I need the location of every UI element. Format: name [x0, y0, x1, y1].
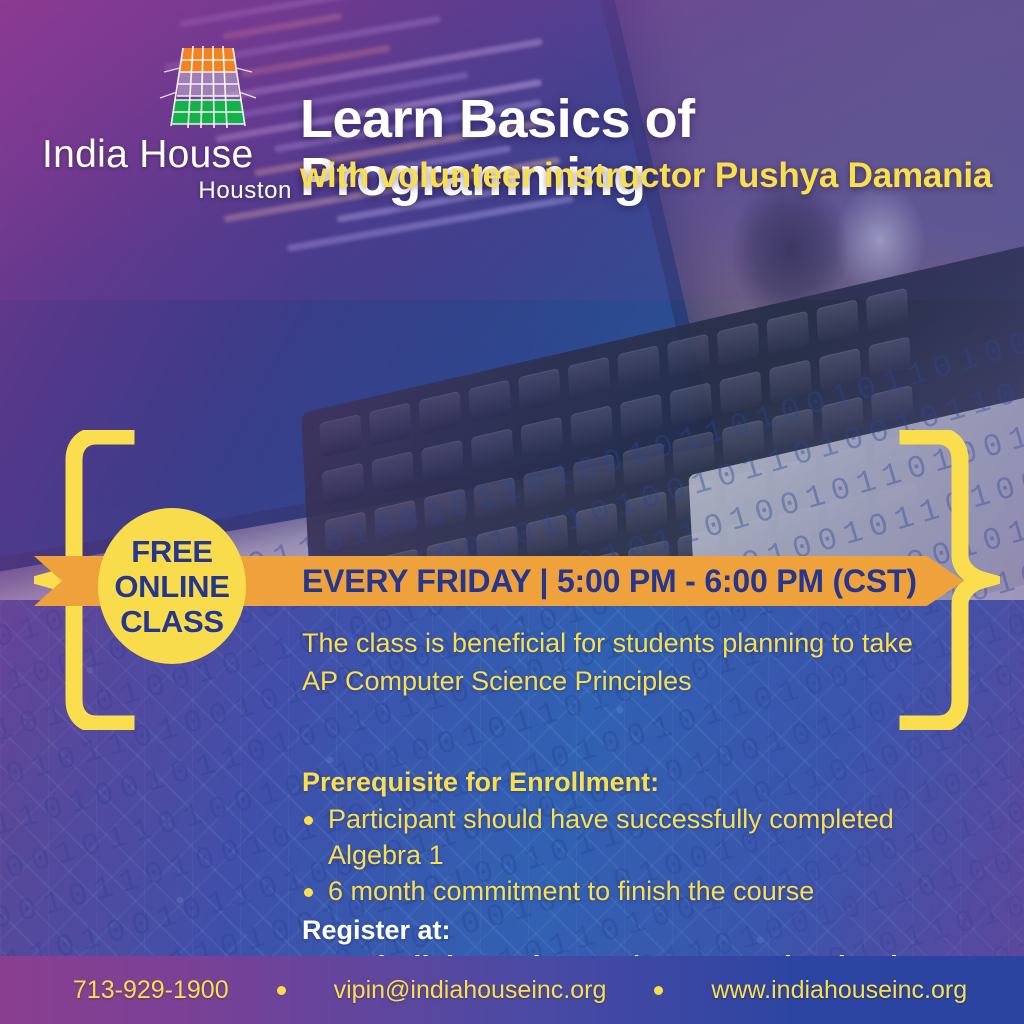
- logo[interactable]: India House Houston: [42, 42, 292, 182]
- list-item: Participant should have successfully com…: [302, 801, 992, 873]
- prerequisite-text: Participant should have successfully com…: [328, 804, 894, 870]
- logo-org-city: Houston: [42, 178, 292, 204]
- flyer-canvas: 1011001010110100101101001011010010110100…: [0, 0, 1024, 1024]
- prerequisites-section: Prerequisite for Enrollment: Participant…: [302, 765, 992, 986]
- free-online-class-badge: FREE ONLINE CLASS: [98, 508, 246, 664]
- prerequisites-heading: Prerequisite for Enrollment:: [302, 765, 992, 799]
- badge-line-free: FREE: [131, 534, 212, 569]
- bullet-icon: [304, 816, 313, 825]
- register-label: Register at:: [302, 913, 992, 948]
- footer-email[interactable]: vipin@indiahouseinc.org: [334, 976, 607, 1005]
- bullet-icon: [304, 888, 313, 897]
- india-house-structure-icon: [150, 42, 262, 134]
- footer-contact-bar: 713-929-1900 vipin@indiahouseinc.org www…: [0, 956, 1024, 1024]
- list-item: 6 month commitment to finish the course: [302, 873, 992, 909]
- prerequisite-text: 6 month commitment to finish the course: [328, 876, 814, 906]
- badge-line-online: ONLINE: [114, 569, 229, 604]
- page-subtitle: with volunteer instructor Pushya Damania: [300, 156, 1000, 196]
- benefit-text: The class is beneficial for students pla…: [302, 624, 942, 700]
- footer-separator-dot-icon: [654, 986, 663, 995]
- logo-org-name: India House: [42, 134, 292, 176]
- footer-phone[interactable]: 713-929-1900: [73, 976, 229, 1005]
- benefit-line-2: AP Computer Science Principles: [302, 662, 942, 700]
- schedule-text: EVERY FRIDAY | 5:00 PM - 6:00 PM (CST): [302, 563, 917, 600]
- footer-separator-dot-icon: [277, 986, 286, 995]
- header: India House Houston Learn Basics of Prog…: [0, 34, 1024, 184]
- badge-line-class: CLASS: [120, 604, 224, 639]
- benefit-line-1: The class is beneficial for students pla…: [302, 624, 942, 662]
- footer-website[interactable]: www.indiahouseinc.org: [711, 976, 967, 1005]
- prerequisites-list: Participant should have successfully com…: [302, 801, 992, 909]
